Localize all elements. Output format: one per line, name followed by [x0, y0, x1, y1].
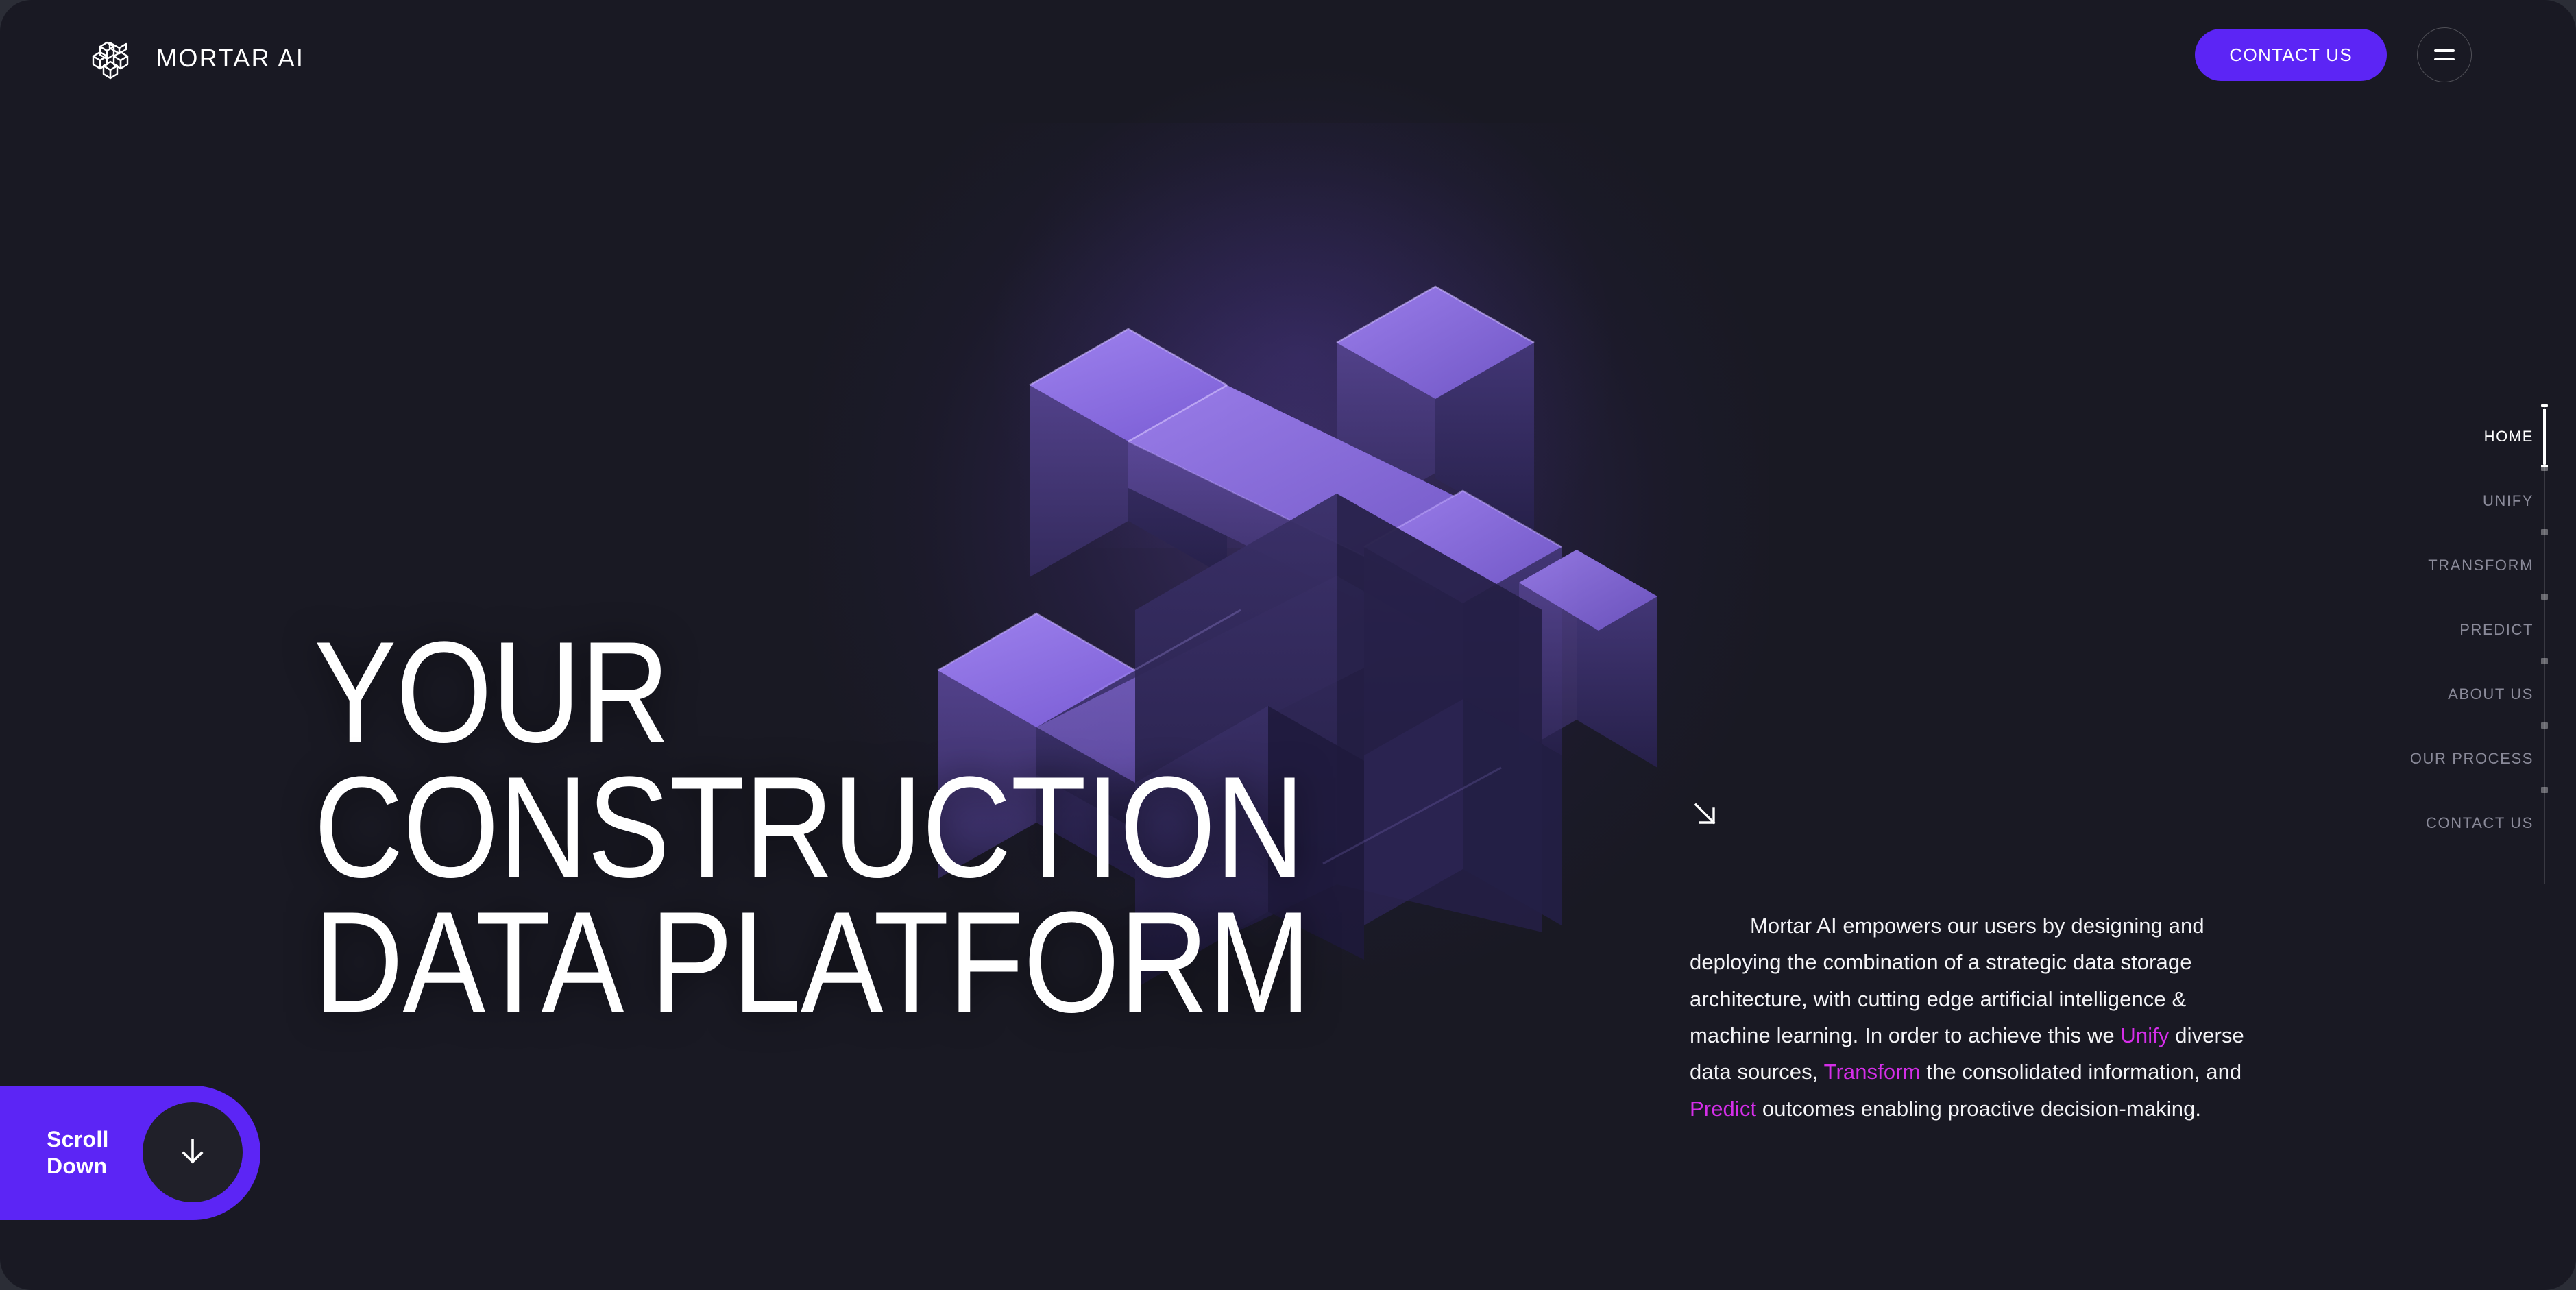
hero-description-block: Mortar AI empowers our users by designin… [1690, 799, 2248, 1127]
desc-part-3: the consolidated information, and [1921, 1060, 2242, 1084]
sidenav-item-unify[interactable]: UNIFY [2410, 469, 2576, 533]
hero-headline: YOUR CONSTRUCTION DATA PLATFORM [314, 624, 1311, 1030]
hamburger-menu-icon-line-1 [2434, 49, 2455, 52]
scroll-tick-1 [2541, 465, 2548, 471]
keyword-transform: Transform [1824, 1060, 1921, 1084]
scroll-down-label: Scroll Down [47, 1126, 109, 1180]
scroll-progress-line [2544, 404, 2545, 884]
brand-logo[interactable]: MORTAR AI [85, 33, 304, 84]
top-navigation-bar: MORTAR AI CONTACT US [0, 0, 2576, 130]
desc-part-4: outcomes enabling proactive decision-mak… [1756, 1097, 2201, 1121]
side-navigation-list: HOMEUNIFYTRANSFORMPREDICTABOUT USOUR PRO… [2410, 404, 2576, 884]
hero-description-text: Mortar AI empowers our users by designin… [1690, 908, 2248, 1127]
scroll-progress-track[interactable] [2541, 404, 2548, 884]
scroll-progress-thumb[interactable] [2543, 409, 2546, 465]
scroll-down-button[interactable]: Scroll Down [0, 1086, 260, 1220]
scroll-tick-3 [2541, 594, 2548, 600]
scroll-progress-cap-top [2541, 404, 2548, 407]
headline-line-2: CONSTRUCTION [314, 759, 1311, 895]
scroll-tick-2 [2541, 529, 2548, 535]
section-side-navigation: HOMEUNIFYTRANSFORMPREDICTABOUT USOUR PRO… [2410, 404, 2576, 884]
sidenav-item-contact-us[interactable]: CONTACT US [2410, 791, 2576, 855]
scroll-down-label-line-2: Down [47, 1153, 109, 1180]
scroll-tick-6 [2541, 787, 2548, 793]
arrow-down-right-icon [1690, 799, 2248, 833]
keyword-predict: Predict [1690, 1097, 1756, 1121]
isometric-cube-logo-icon [85, 33, 136, 84]
sidenav-item-transform[interactable]: TRANSFORM [2410, 533, 2576, 598]
sidenav-item-our-process[interactable]: OUR PROCESS [2410, 727, 2576, 791]
arrow-down-icon [172, 1130, 213, 1175]
keyword-unify: Unify [2120, 1023, 2169, 1047]
headline-line-1: YOUR [314, 624, 1311, 759]
sidenav-item-predict[interactable]: PREDICT [2410, 598, 2576, 662]
background-glow-secondary [994, 69, 1611, 548]
hero-page: MORTAR AI CONTACT US YOUR CONSTRUCTION D… [0, 0, 2576, 1290]
scroll-tick-4 [2541, 658, 2548, 664]
hamburger-menu-button[interactable] [2417, 27, 2472, 82]
contact-us-button[interactable]: CONTACT US [2195, 29, 2387, 81]
scroll-down-circle[interactable] [143, 1102, 243, 1202]
sidenav-item-home[interactable]: HOME [2410, 404, 2576, 469]
scroll-down-label-line-1: Scroll [47, 1126, 109, 1153]
hamburger-menu-icon-line-2 [2434, 58, 2455, 61]
brand-name: MORTAR AI [156, 44, 304, 73]
headline-line-3: DATA PLATFORM [314, 895, 1311, 1030]
sidenav-item-about-us[interactable]: ABOUT US [2410, 662, 2576, 727]
scroll-tick-5 [2541, 722, 2548, 729]
